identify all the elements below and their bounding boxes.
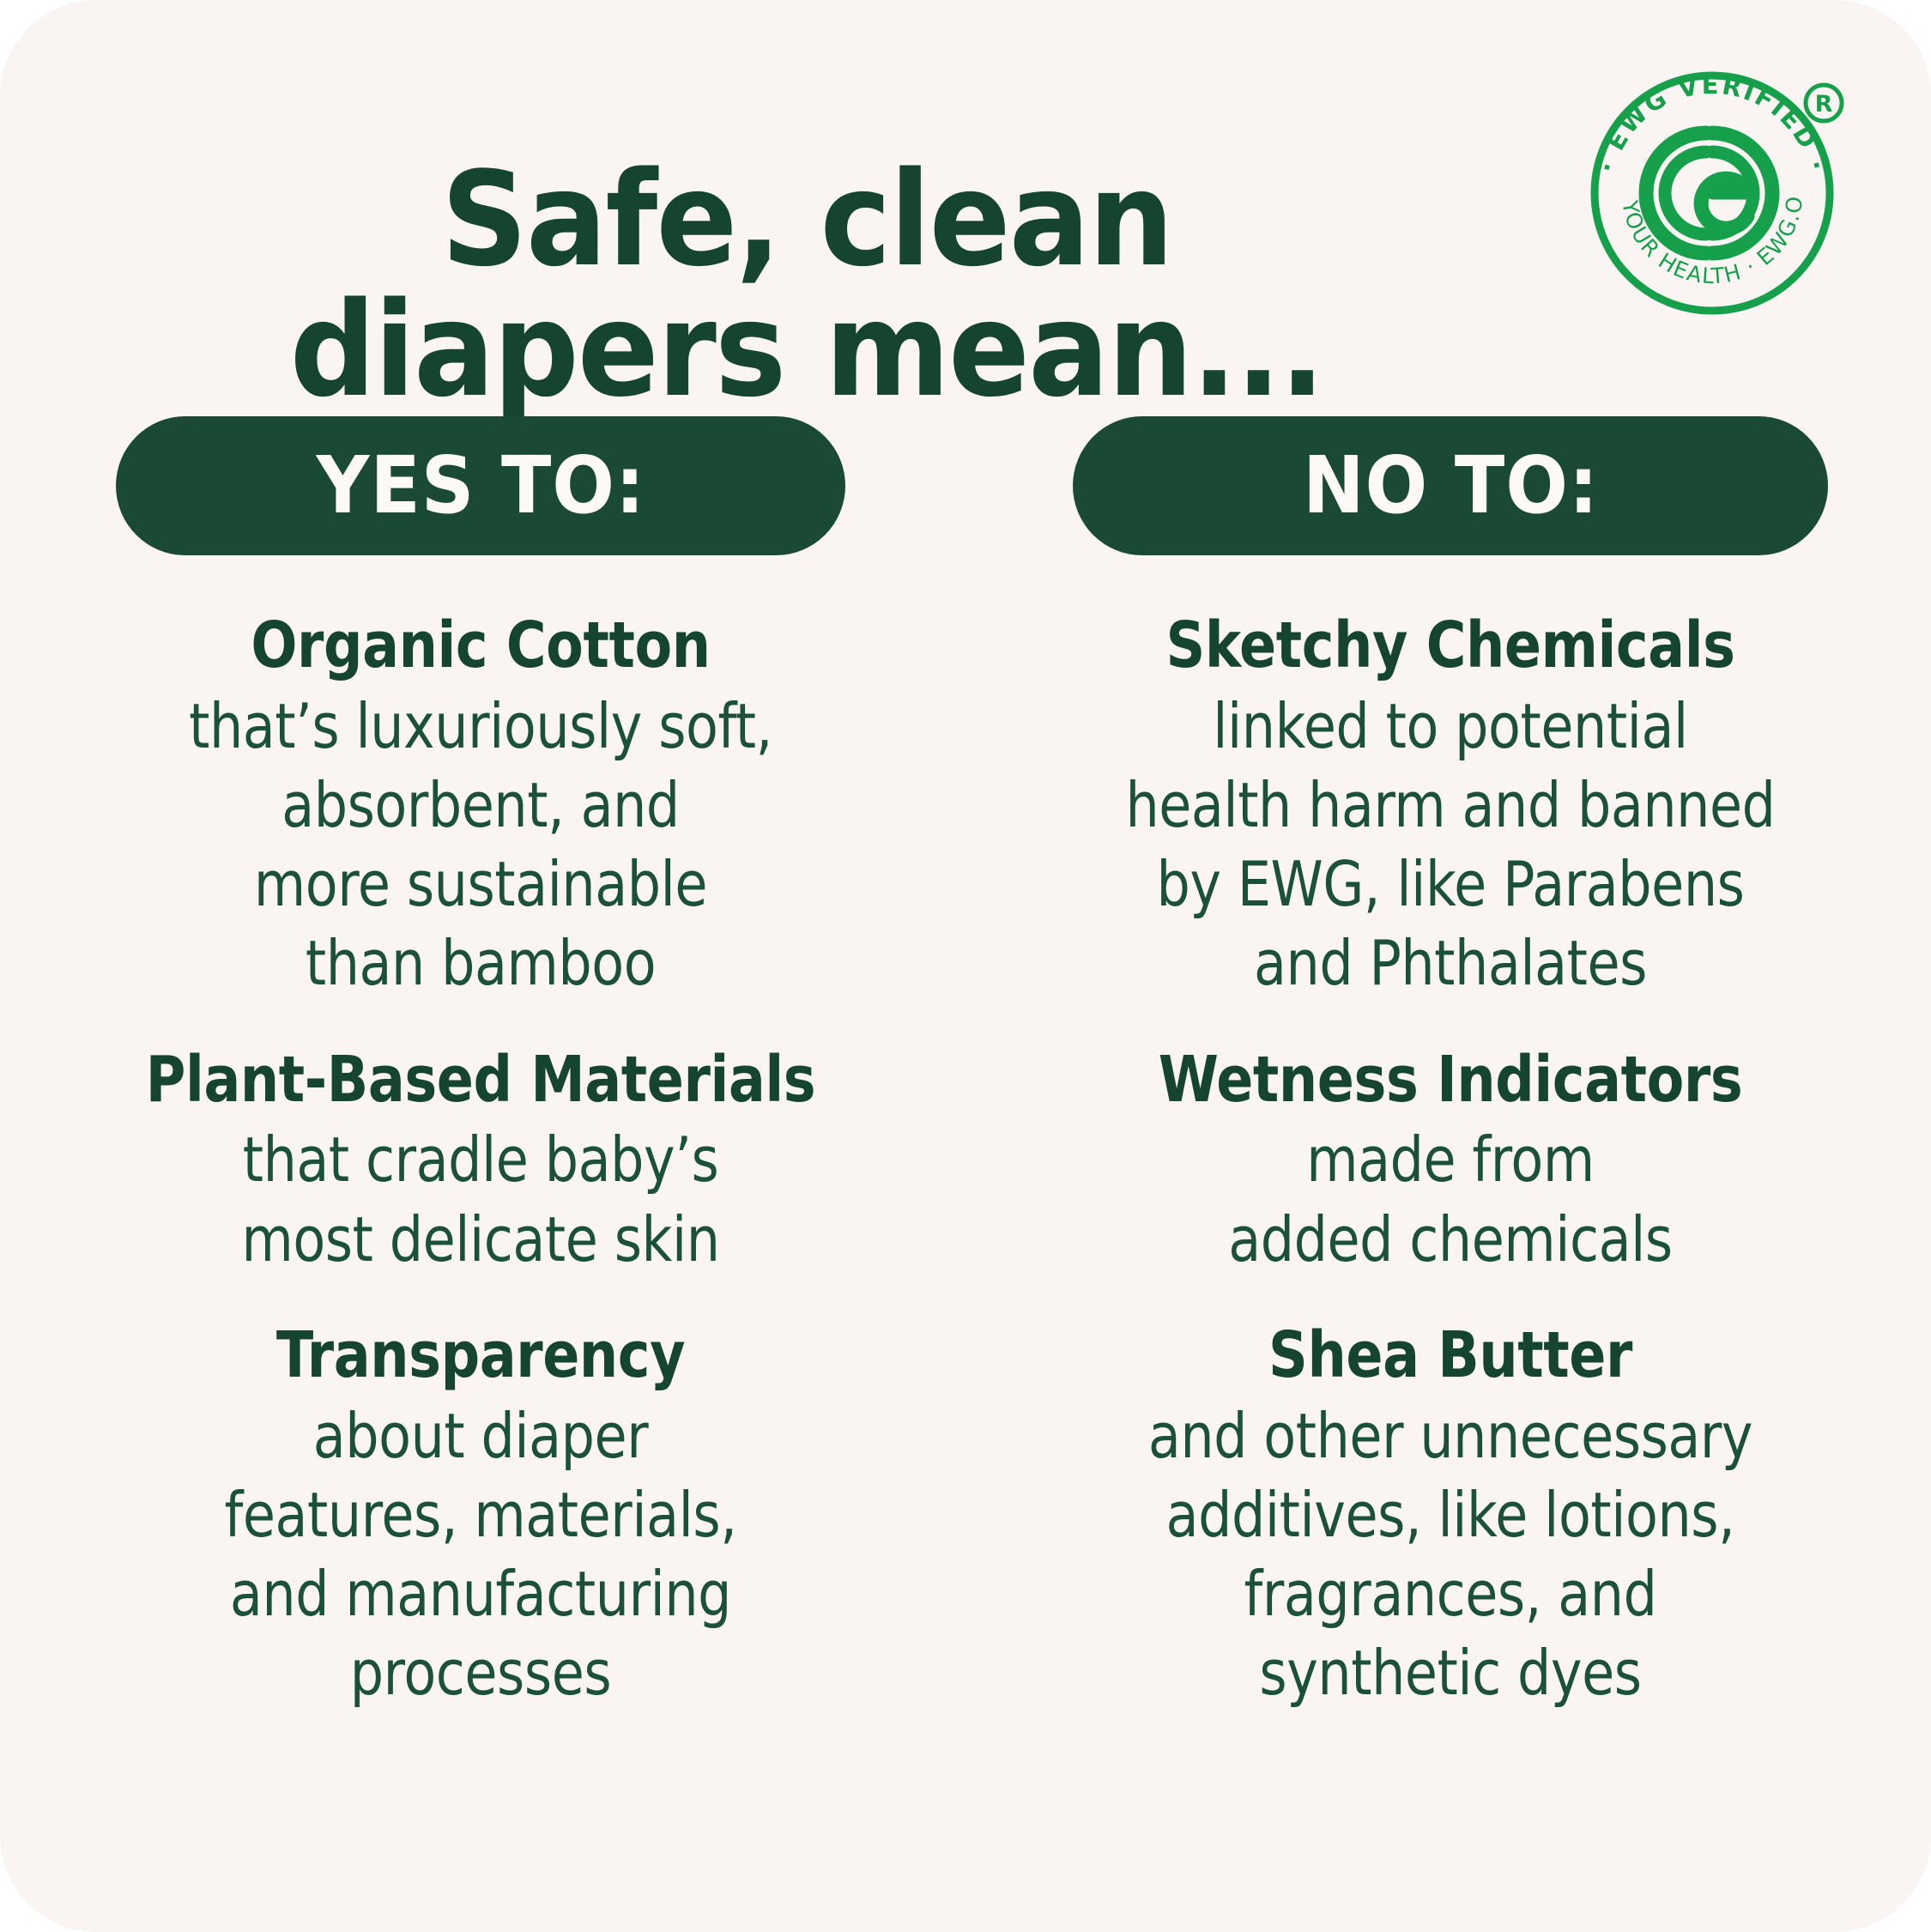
item-body: made from added chemicals — [1096, 1120, 1805, 1278]
no-to-pill: NO TO: — [1073, 416, 1828, 555]
item-heading: Sketchy Chemicals — [1096, 610, 1805, 681]
column-yes-to: YES TO: Organic Cotton that’s luxuriousl… — [69, 403, 893, 1712]
list-item: Plant-Based Materials that cradle baby’s… — [69, 1045, 893, 1279]
svg-text:R: R — [1815, 91, 1833, 118]
yes-to-label: YES TO: — [316, 446, 645, 525]
item-heading: Transparency — [126, 1320, 835, 1391]
column-no-to: NO TO: Sketchy Chemicals linked to poten… — [1038, 403, 1862, 1712]
item-heading: Plant-Based Materials — [126, 1045, 835, 1116]
list-item: Wetness Indicators made from added chemi… — [1038, 1045, 1862, 1279]
item-body: that cradle baby’s most delicate skin — [126, 1120, 835, 1278]
item-heading: Organic Cotton — [126, 610, 835, 681]
list-item: Shea Butter and other unnecessary additi… — [1038, 1320, 1862, 1713]
item-body: that’s luxuriously soft, absorbent, and … — [126, 687, 835, 1003]
item-heading: Wetness Indicators — [1096, 1045, 1805, 1116]
no-to-items: Sketchy Chemicals linked to potential he… — [1038, 610, 1862, 1712]
no-to-label: NO TO: — [1302, 446, 1598, 525]
item-body: about diaper features, materials, and ma… — [126, 1396, 835, 1713]
ewg-e-mark-icon — [1646, 133, 1772, 253]
registered-mark-icon: R — [1806, 85, 1842, 121]
list-item: Transparency about diaper features, mate… — [69, 1320, 893, 1713]
item-body: and other unnecessary additives, like lo… — [1096, 1396, 1805, 1713]
comparison-columns: YES TO: Organic Cotton that’s luxuriousl… — [0, 403, 1931, 1712]
ewg-verified-badge: R · EWG VERIFIED · FOR YOUR HEALTH · EWG… — [1576, 53, 1849, 326]
svg-text:· EWG VERIFIED ·: · EWG VERIFIED · — [1592, 70, 1832, 176]
item-heading: Shea Butter — [1096, 1320, 1805, 1391]
header: Safe, clean diapers mean... R · EWG VERI… — [0, 0, 1931, 403]
page-title: Safe, clean diapers mean... — [160, 154, 1455, 415]
infographic-card: Safe, clean diapers mean... R · EWG VERI… — [0, 0, 1931, 1932]
yes-to-pill: YES TO: — [116, 416, 845, 555]
item-body: linked to potential health harm and bann… — [1096, 687, 1805, 1003]
list-item: Organic Cotton that’s luxuriously soft, … — [69, 610, 893, 1003]
yes-to-items: Organic Cotton that’s luxuriously soft, … — [69, 610, 893, 1712]
list-item: Sketchy Chemicals linked to potential he… — [1038, 610, 1862, 1003]
